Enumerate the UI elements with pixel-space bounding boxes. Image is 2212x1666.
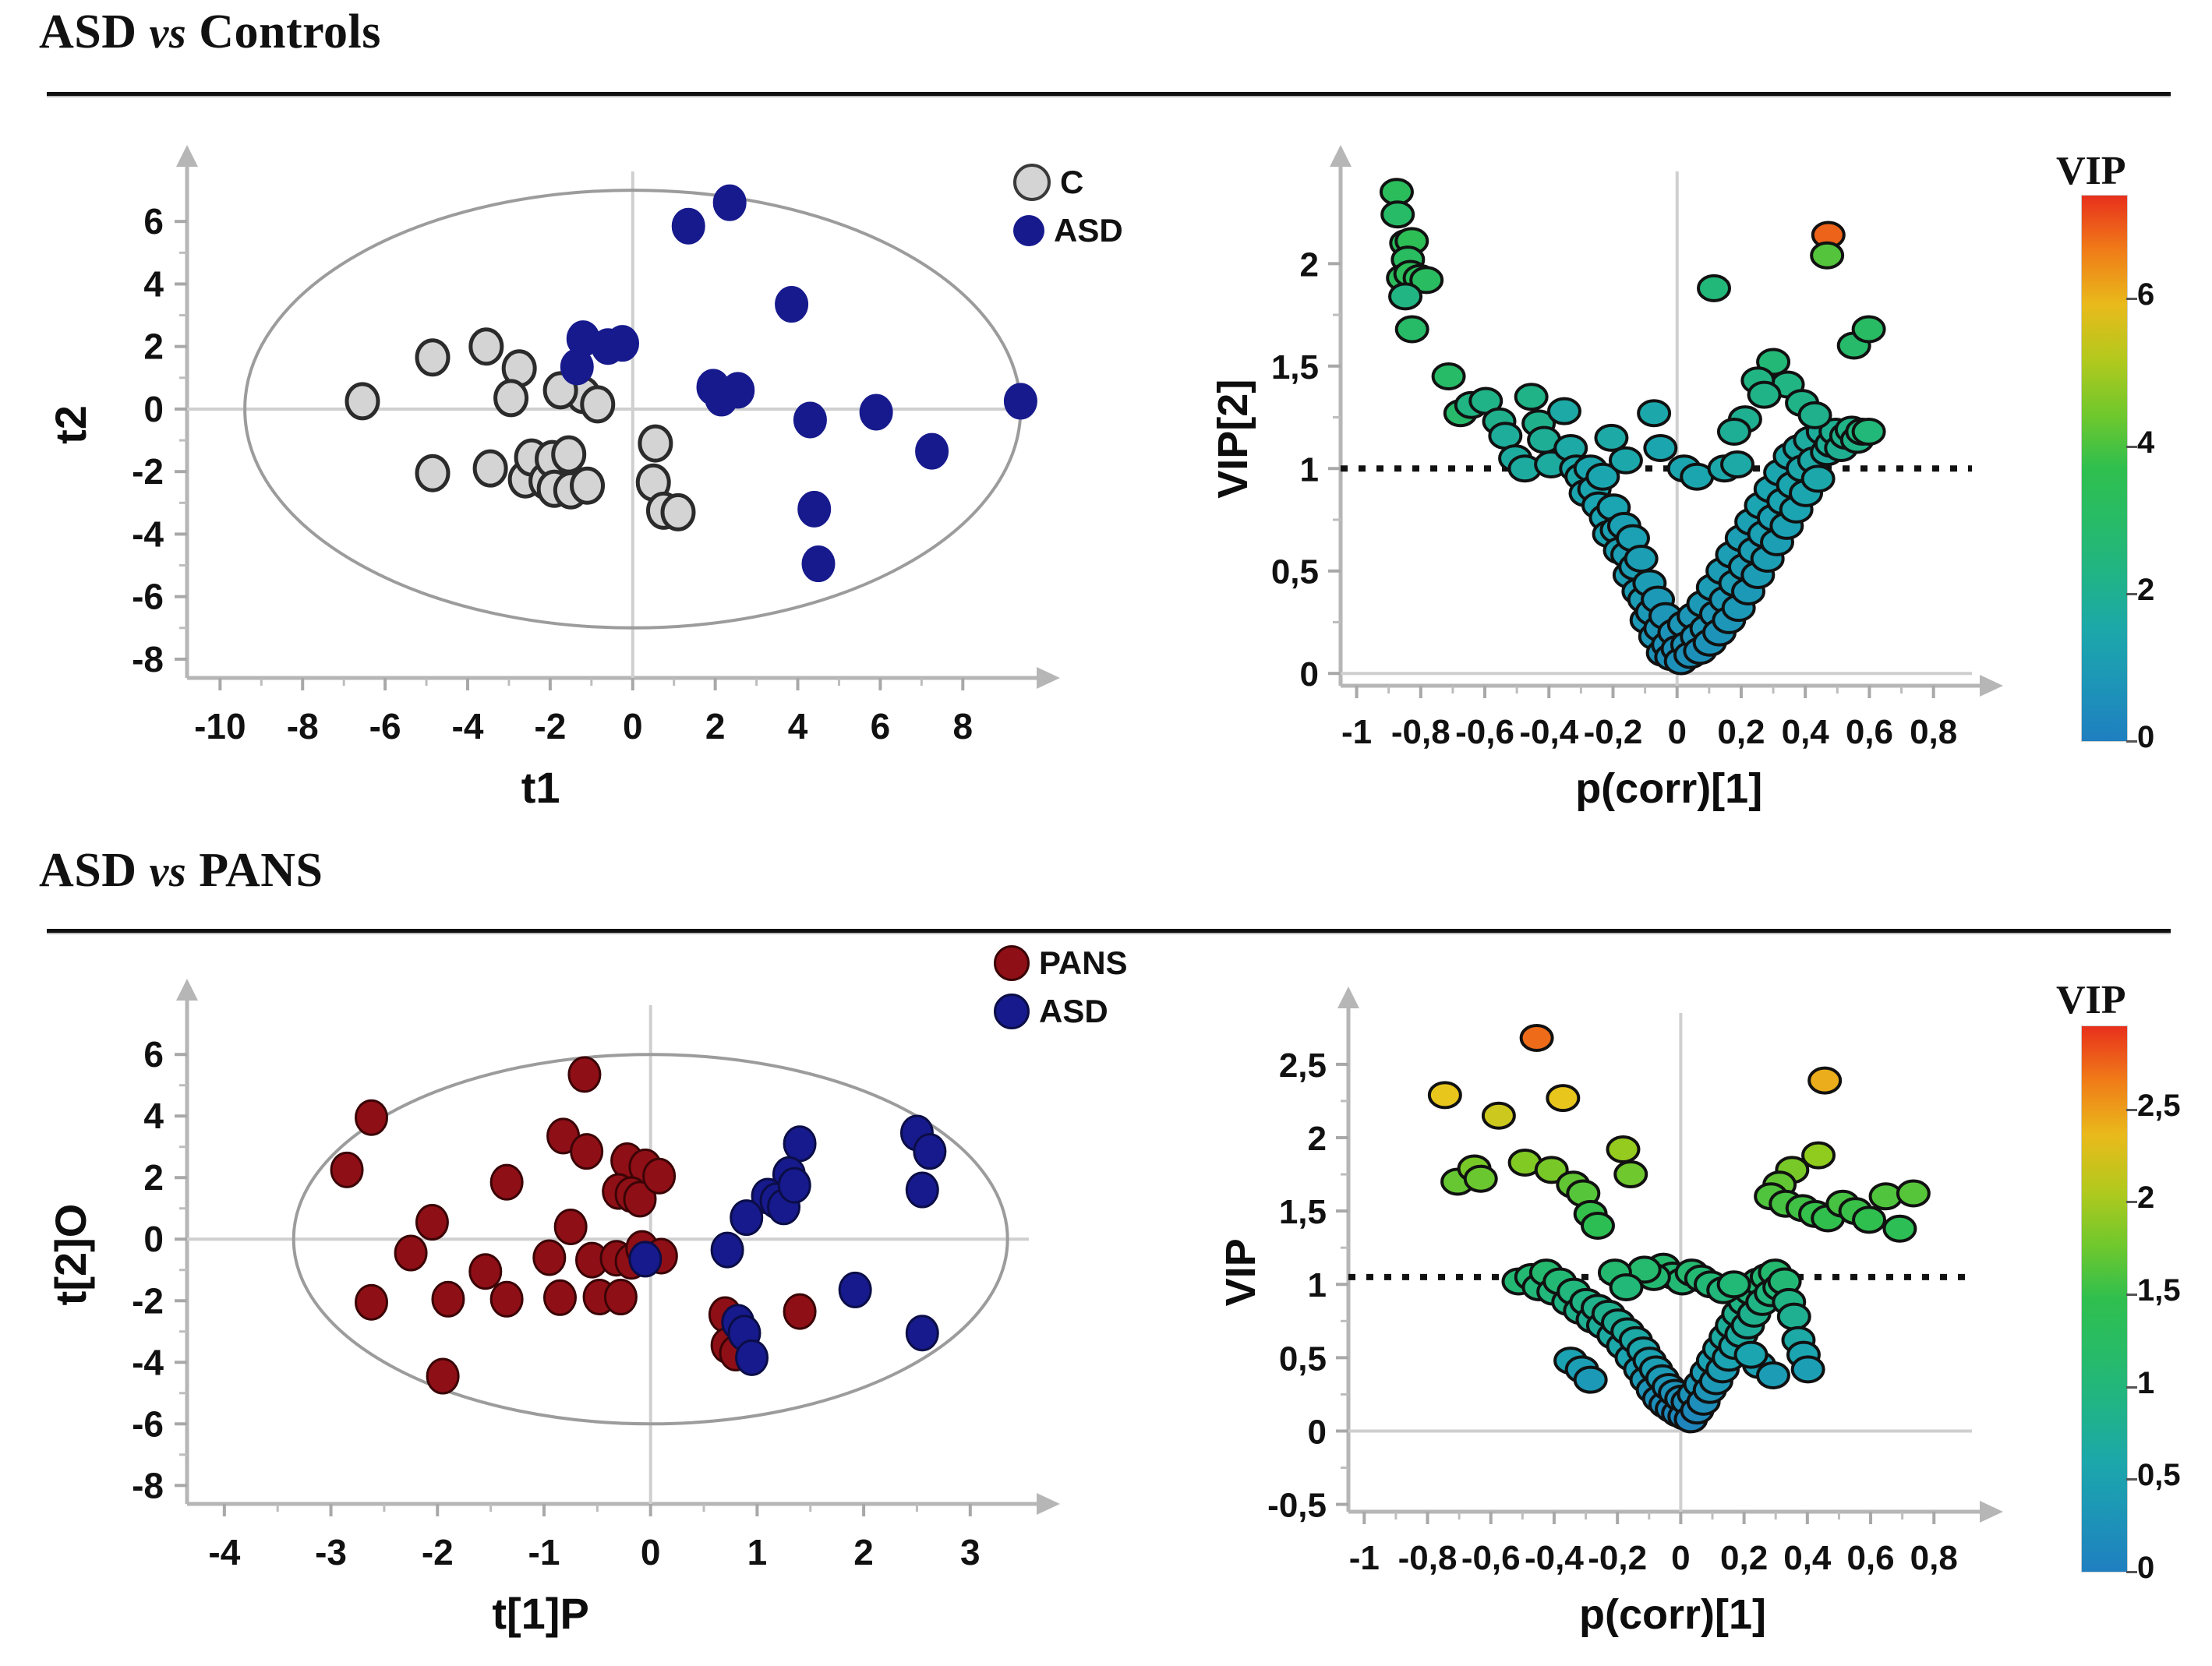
scores-plot-asd-controls[interactable]: -10-8-6-4-202468-8-6-4-20246t1t2 bbox=[47, 140, 1060, 842]
x-tick-label: 0 bbox=[1671, 1539, 1690, 1577]
x-axis-label: p(corr)[1] bbox=[1579, 1591, 1766, 1638]
y-tick-label: -8 bbox=[132, 639, 164, 679]
y-tick-label: 0 bbox=[143, 1219, 164, 1259]
y-tick-label: 1,5 bbox=[1279, 1193, 1327, 1231]
x-tick-label: -6 bbox=[369, 706, 401, 747]
x-tick-label: 0 bbox=[1667, 713, 1686, 751]
vip-point[interactable] bbox=[1465, 1167, 1496, 1191]
legend-asd-controls: C ASD bbox=[1013, 164, 1123, 260]
vip-point[interactable] bbox=[1793, 1357, 1824, 1382]
scatter-point[interactable] bbox=[491, 1165, 522, 1199]
scatter-point[interactable] bbox=[555, 1209, 586, 1244]
y-axis-label: VIP bbox=[1217, 1238, 1264, 1306]
section-title-tail: Controls bbox=[199, 5, 381, 58]
vip-point[interactable] bbox=[1884, 1216, 1915, 1241]
x-tick-label: 1 bbox=[747, 1532, 768, 1572]
x-tick-label: 0 bbox=[623, 706, 643, 747]
colorbar-tick-mark bbox=[2126, 1478, 2137, 1481]
colorbar-tick-label: 0 bbox=[2137, 720, 2154, 755]
y-axis-label: t[2]O bbox=[46, 1204, 95, 1306]
scatter-point[interactable] bbox=[1005, 384, 1036, 418]
vip-point[interactable] bbox=[1853, 316, 1885, 341]
scatter-point[interactable] bbox=[731, 1201, 762, 1235]
vip-point[interactable] bbox=[1638, 401, 1670, 425]
scatter-point[interactable] bbox=[356, 1100, 387, 1135]
vip-point[interactable] bbox=[1429, 1082, 1461, 1107]
x-tick-label: -0,4 bbox=[1519, 713, 1578, 751]
legend-label-pans: PANS bbox=[1039, 944, 1128, 982]
scatter-point[interactable] bbox=[331, 1152, 362, 1187]
scatter-point[interactable] bbox=[607, 326, 638, 361]
y-axis-label: t2 bbox=[46, 405, 95, 444]
vip-point[interactable] bbox=[1758, 1363, 1789, 1388]
y-tick-label: -4 bbox=[132, 1342, 164, 1382]
x-tick-label: -1 bbox=[528, 1532, 560, 1572]
x-tick-label: -10 bbox=[194, 706, 246, 747]
scatter-point[interactable] bbox=[737, 1340, 768, 1375]
colorbar-tick-label: 2 bbox=[2137, 573, 2154, 608]
vip-point[interactable] bbox=[1575, 1368, 1606, 1392]
vip-point[interactable] bbox=[1549, 399, 1580, 424]
section-divider-bottom bbox=[47, 929, 2171, 933]
legend-item[interactable]: ASD bbox=[1013, 212, 1123, 249]
x-axis-label: t1 bbox=[521, 763, 560, 812]
y-tick-label: 0,5 bbox=[1279, 1340, 1327, 1378]
scatter-point[interactable] bbox=[714, 185, 745, 220]
x-tick-label: -0,8 bbox=[1391, 713, 1451, 751]
x-tick-label: 0 bbox=[641, 1532, 661, 1572]
colorbar-tick-mark bbox=[2126, 740, 2137, 743]
x-tick-label: -3 bbox=[315, 1532, 347, 1572]
scatter-point[interactable] bbox=[582, 387, 613, 422]
legend-swatch-asd bbox=[994, 994, 1030, 1029]
scatter-point[interactable] bbox=[605, 1280, 636, 1315]
x-tick-label: -4 bbox=[452, 706, 484, 747]
colorbar-tick-label: 0 bbox=[2137, 1551, 2154, 1586]
y-tick-label: 0 bbox=[1300, 655, 1319, 694]
x-tick-label: -2 bbox=[534, 706, 566, 747]
vip-point[interactable] bbox=[1853, 419, 1885, 444]
vip-point[interactable] bbox=[1433, 364, 1465, 389]
scatter-point[interactable] bbox=[914, 1135, 945, 1169]
scatter-point[interactable] bbox=[799, 492, 830, 526]
colorbar-top bbox=[2081, 195, 2128, 742]
x-tick-label: 0,8 bbox=[1910, 1539, 1958, 1577]
scatter-point[interactable] bbox=[395, 1236, 426, 1270]
scatter-point[interactable] bbox=[906, 1316, 938, 1350]
x-tick-label: -0,8 bbox=[1398, 1539, 1458, 1577]
section-title-asd-vs-pans: ASD vs PANS bbox=[39, 843, 323, 898]
vip-point[interactable] bbox=[1853, 1207, 1885, 1232]
x-tick-label: -1 bbox=[1341, 713, 1372, 751]
y-tick-label: -0,5 bbox=[1267, 1487, 1327, 1525]
y-tick-label: 4 bbox=[143, 263, 164, 304]
legend-asd-pans: PANS ASD bbox=[994, 944, 1128, 1041]
vip-point[interactable] bbox=[1719, 1272, 1750, 1297]
vip-point[interactable] bbox=[1719, 419, 1750, 444]
x-tick-label: -0,4 bbox=[1525, 1539, 1584, 1577]
scatter-point[interactable] bbox=[471, 330, 502, 364]
x-tick-label: 2 bbox=[705, 706, 726, 747]
y-tick-label: -6 bbox=[132, 577, 164, 617]
y-axis-label: VIP[2] bbox=[1210, 379, 1256, 499]
x-tick-label: 0,2 bbox=[1717, 713, 1765, 751]
scatter-point[interactable] bbox=[917, 434, 948, 468]
scatter-point[interactable] bbox=[673, 209, 704, 243]
legend-label-c: C bbox=[1060, 164, 1083, 201]
colorbar-title-bottom: VIP bbox=[2056, 977, 2126, 1023]
colorbar-tick-mark bbox=[2126, 1201, 2137, 1203]
y-tick-label: -2 bbox=[132, 1280, 164, 1321]
scatter-point[interactable] bbox=[784, 1127, 815, 1161]
scatter-point[interactable] bbox=[356, 1285, 387, 1319]
x-tick-label: -0,2 bbox=[1588, 1539, 1647, 1577]
vip-point[interactable] bbox=[1607, 1137, 1638, 1162]
section-title-main: ASD bbox=[39, 5, 137, 58]
scatter-point[interactable] bbox=[544, 1280, 575, 1315]
vip-point[interactable] bbox=[1698, 276, 1730, 301]
vip-point[interactable] bbox=[1390, 284, 1421, 309]
colorbar-tick-label: 6 bbox=[2137, 277, 2154, 312]
scatter-point[interactable] bbox=[776, 288, 807, 322]
vip-point[interactable] bbox=[1397, 316, 1428, 341]
y-tick-label: -8 bbox=[132, 1465, 164, 1505]
x-axis-label: p(corr)[1] bbox=[1575, 765, 1762, 812]
y-tick-label: 0 bbox=[143, 389, 164, 429]
scatter-point[interactable] bbox=[698, 370, 729, 404]
scatter-point[interactable] bbox=[433, 1282, 464, 1316]
vip-point[interactable] bbox=[1626, 546, 1657, 571]
colorbar-tick-label: 0,5 bbox=[2137, 1458, 2181, 1493]
x-tick-label: -0,6 bbox=[1461, 1539, 1521, 1577]
scatter-point[interactable] bbox=[561, 350, 592, 384]
x-tick-label: 8 bbox=[952, 706, 973, 747]
scatter-point[interactable] bbox=[553, 437, 585, 471]
scatter-point[interactable] bbox=[572, 468, 603, 503]
colorbar-tick-label: 1,5 bbox=[2137, 1273, 2181, 1308]
x-tick-label: 4 bbox=[788, 706, 808, 747]
y-tick-label: 4 bbox=[143, 1096, 164, 1136]
y-tick-label: 2,5 bbox=[1279, 1047, 1327, 1085]
colorbar-tick-label: 2,5 bbox=[2137, 1089, 2181, 1124]
scatter-point[interactable] bbox=[712, 1233, 743, 1267]
scatter-point[interactable] bbox=[416, 1205, 447, 1240]
colorbar-tick-mark bbox=[2126, 1109, 2137, 1111]
scatter-point[interactable] bbox=[571, 1135, 602, 1169]
y-tick-label: 6 bbox=[143, 1034, 164, 1075]
scatter-point[interactable] bbox=[569, 1057, 600, 1092]
scatter-point[interactable] bbox=[640, 426, 671, 461]
y-tick-label: -4 bbox=[132, 514, 164, 554]
scatter-point[interactable] bbox=[663, 495, 694, 529]
x-tick-label: -0,6 bbox=[1455, 713, 1514, 751]
vip-point[interactable] bbox=[1749, 383, 1780, 408]
x-tick-label: 0,8 bbox=[1910, 713, 1957, 751]
legend-label-asd: ASD bbox=[1054, 212, 1123, 249]
colorbar-tick-mark bbox=[2126, 593, 2137, 595]
x-tick-label: 0,6 bbox=[1846, 713, 1893, 751]
colorbar-tick-mark bbox=[2126, 1294, 2137, 1296]
x-tick-label: -2 bbox=[422, 1532, 454, 1572]
legend-item[interactable]: ASD bbox=[994, 993, 1128, 1030]
legend-label-asd: ASD bbox=[1039, 993, 1108, 1030]
scatter-point[interactable] bbox=[803, 547, 834, 581]
y-tick-label: 2 bbox=[1308, 1120, 1327, 1158]
scatter-point[interactable] bbox=[470, 1255, 501, 1289]
y-tick-label: 6 bbox=[143, 201, 164, 242]
vip-point[interactable] bbox=[1521, 1025, 1553, 1050]
vip-point[interactable] bbox=[1736, 1343, 1767, 1368]
x-axis-label: t[1]P bbox=[492, 1589, 588, 1638]
section-divider-top bbox=[47, 92, 2171, 96]
scatter-point[interactable] bbox=[644, 1159, 675, 1193]
scatter-point[interactable] bbox=[779, 1168, 810, 1202]
x-tick-label: -1 bbox=[1349, 1539, 1380, 1577]
colorbar-tick-label: 4 bbox=[2137, 425, 2154, 461]
x-tick-label: 0,6 bbox=[1846, 1539, 1894, 1577]
scatter-point[interactable] bbox=[347, 384, 378, 418]
x-tick-label: 0,4 bbox=[1783, 1539, 1832, 1577]
y-tick-label: -6 bbox=[132, 1403, 164, 1444]
vip-point[interactable] bbox=[1611, 1275, 1642, 1300]
scatter-point[interactable] bbox=[784, 1294, 815, 1329]
vip-point[interactable] bbox=[1800, 403, 1831, 428]
scatter-point[interactable] bbox=[534, 1241, 565, 1275]
y-tick-label: 1,5 bbox=[1271, 348, 1319, 386]
vip-point[interactable] bbox=[1610, 448, 1641, 473]
colorbar-tick-mark bbox=[2126, 446, 2137, 448]
y-tick-label: 0,5 bbox=[1271, 553, 1319, 591]
scatter-point[interactable] bbox=[906, 1173, 938, 1207]
colorbar-tick-mark bbox=[2126, 298, 2137, 300]
scatter-point[interactable] bbox=[496, 381, 527, 415]
colorbar-tick-label: 1 bbox=[2137, 1366, 2154, 1401]
scatter-point[interactable] bbox=[860, 395, 892, 429]
y-tick-label: 1 bbox=[1308, 1266, 1327, 1304]
section-title-main: ASD bbox=[39, 844, 137, 897]
x-tick-label: 2 bbox=[853, 1532, 874, 1572]
legend-item[interactable]: PANS bbox=[994, 944, 1128, 982]
x-tick-label: 6 bbox=[871, 706, 891, 747]
x-tick-label: 3 bbox=[960, 1532, 981, 1572]
x-tick-label: -4 bbox=[208, 1532, 240, 1572]
y-tick-label: 1 bbox=[1300, 450, 1319, 489]
x-tick-label: 0,4 bbox=[1782, 713, 1830, 751]
y-tick-label: 2 bbox=[143, 326, 164, 367]
legend-swatch-asd bbox=[1013, 215, 1044, 246]
vip-point[interactable] bbox=[1615, 1162, 1646, 1187]
section-title-vs: vs bbox=[150, 848, 187, 896]
colorbar-tick-mark bbox=[2126, 1386, 2137, 1389]
colorbar-tick-label: 2 bbox=[2137, 1181, 2154, 1216]
colorbar-tick-mark bbox=[2126, 1571, 2137, 1573]
vip-point[interactable] bbox=[1582, 1213, 1613, 1238]
vip-point[interactable] bbox=[1547, 1085, 1578, 1110]
y-tick-label: 2 bbox=[1300, 245, 1319, 284]
y-tick-label: -2 bbox=[132, 451, 164, 492]
section-title-tail: PANS bbox=[199, 844, 323, 897]
scatter-point[interactable] bbox=[417, 341, 448, 375]
scatter-point[interactable] bbox=[475, 451, 506, 485]
legend-item[interactable]: C bbox=[1013, 164, 1123, 201]
y-tick-label: 0 bbox=[1308, 1413, 1327, 1451]
vip-point[interactable] bbox=[1483, 1103, 1514, 1128]
x-tick-label: -8 bbox=[287, 706, 319, 747]
legend-swatch-pans bbox=[994, 945, 1030, 981]
scores-plot-asd-pans[interactable]: -4-3-2-10123-8-6-4-20246t[1]Pt[2]O bbox=[47, 974, 1060, 1660]
vip-point[interactable] bbox=[1779, 1304, 1810, 1329]
scatter-point[interactable] bbox=[417, 456, 448, 490]
vip-point[interactable] bbox=[1595, 425, 1627, 450]
scatter-point[interactable] bbox=[794, 403, 825, 437]
scatter-point[interactable] bbox=[427, 1359, 458, 1393]
x-tick-label: -0,2 bbox=[1584, 713, 1643, 751]
y-tick-label: 2 bbox=[143, 1157, 164, 1198]
vip-point[interactable] bbox=[1516, 384, 1547, 409]
vip-plot-asd-controls[interactable]: -1-0,8-0,6-0,4-0,200,20,40,60,800,511,52… bbox=[1185, 140, 2003, 842]
colorbar-title-top: VIP bbox=[2056, 148, 2126, 194]
vip-point[interactable] bbox=[1382, 202, 1413, 227]
vip-point[interactable] bbox=[1722, 452, 1753, 477]
vip-point[interactable] bbox=[1645, 436, 1676, 461]
section-title-vs: vs bbox=[150, 9, 187, 58]
scatter-point[interactable] bbox=[839, 1272, 871, 1307]
legend-swatch-c bbox=[1013, 164, 1051, 201]
colorbar-bottom bbox=[2081, 1025, 2128, 1572]
vip-point[interactable] bbox=[1811, 243, 1843, 268]
scatter-point[interactable] bbox=[491, 1282, 522, 1316]
x-tick-label: 0,2 bbox=[1720, 1539, 1768, 1577]
vip-point[interactable] bbox=[1803, 466, 1834, 491]
vip-point[interactable] bbox=[1809, 1068, 1840, 1093]
vip-plot-asd-pans[interactable]: -1-0,8-0,6-0,4-0,200,20,40,60,8-0,500,51… bbox=[1185, 974, 2003, 1660]
scatter-point[interactable] bbox=[630, 1242, 661, 1276]
section-title-asd-vs-controls: ASD vs Controls bbox=[39, 5, 381, 60]
vip-point[interactable] bbox=[1898, 1181, 1929, 1206]
